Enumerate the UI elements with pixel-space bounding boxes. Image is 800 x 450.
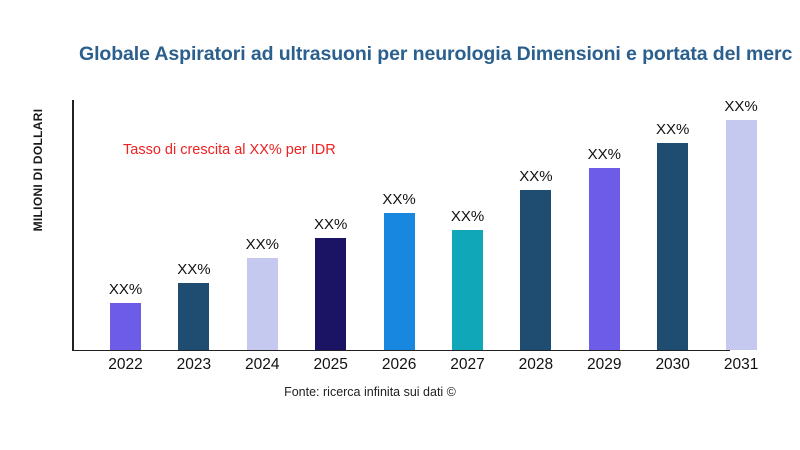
bar-value-label-2024: XX% xyxy=(222,236,302,254)
bar-2027[interactable] xyxy=(452,230,483,350)
bar-2028[interactable] xyxy=(520,190,551,350)
bar-value-label-2026: XX% xyxy=(359,191,439,209)
bar-2031[interactable] xyxy=(726,120,757,350)
bar-2022[interactable] xyxy=(110,303,141,351)
bar-2029[interactable] xyxy=(589,168,620,351)
bar-value-label-2030: XX% xyxy=(633,121,713,139)
source-caption: Fonte: ricerca infinita sui dati © xyxy=(0,385,740,399)
chart-canvas: Globale Aspiratori ad ultrasuoni per neu… xyxy=(0,0,800,450)
bar-value-label-2028: XX% xyxy=(496,168,576,186)
bar-value-label-2023: XX% xyxy=(154,261,234,279)
bar-2026[interactable] xyxy=(384,213,415,351)
x-tick-label-2031: 2031 xyxy=(701,355,781,375)
bar-value-label-2027: XX% xyxy=(428,208,508,226)
bar-2025[interactable] xyxy=(315,238,346,351)
bar-value-label-2029: XX% xyxy=(564,146,644,164)
growth-rate-annotation: Tasso di crescita al XX% per IDR xyxy=(123,142,336,158)
bar-value-label-2022: XX% xyxy=(86,281,166,299)
bar-value-label-2031: XX% xyxy=(701,98,781,116)
bar-value-label-2025: XX% xyxy=(291,216,371,234)
bar-2023[interactable] xyxy=(178,283,209,351)
bar-2024[interactable] xyxy=(247,258,278,351)
bar-2030[interactable] xyxy=(657,143,688,351)
plot-area: XX%2022XX%2023XX%2024XX%2025XX%2026XX%20… xyxy=(0,0,800,450)
